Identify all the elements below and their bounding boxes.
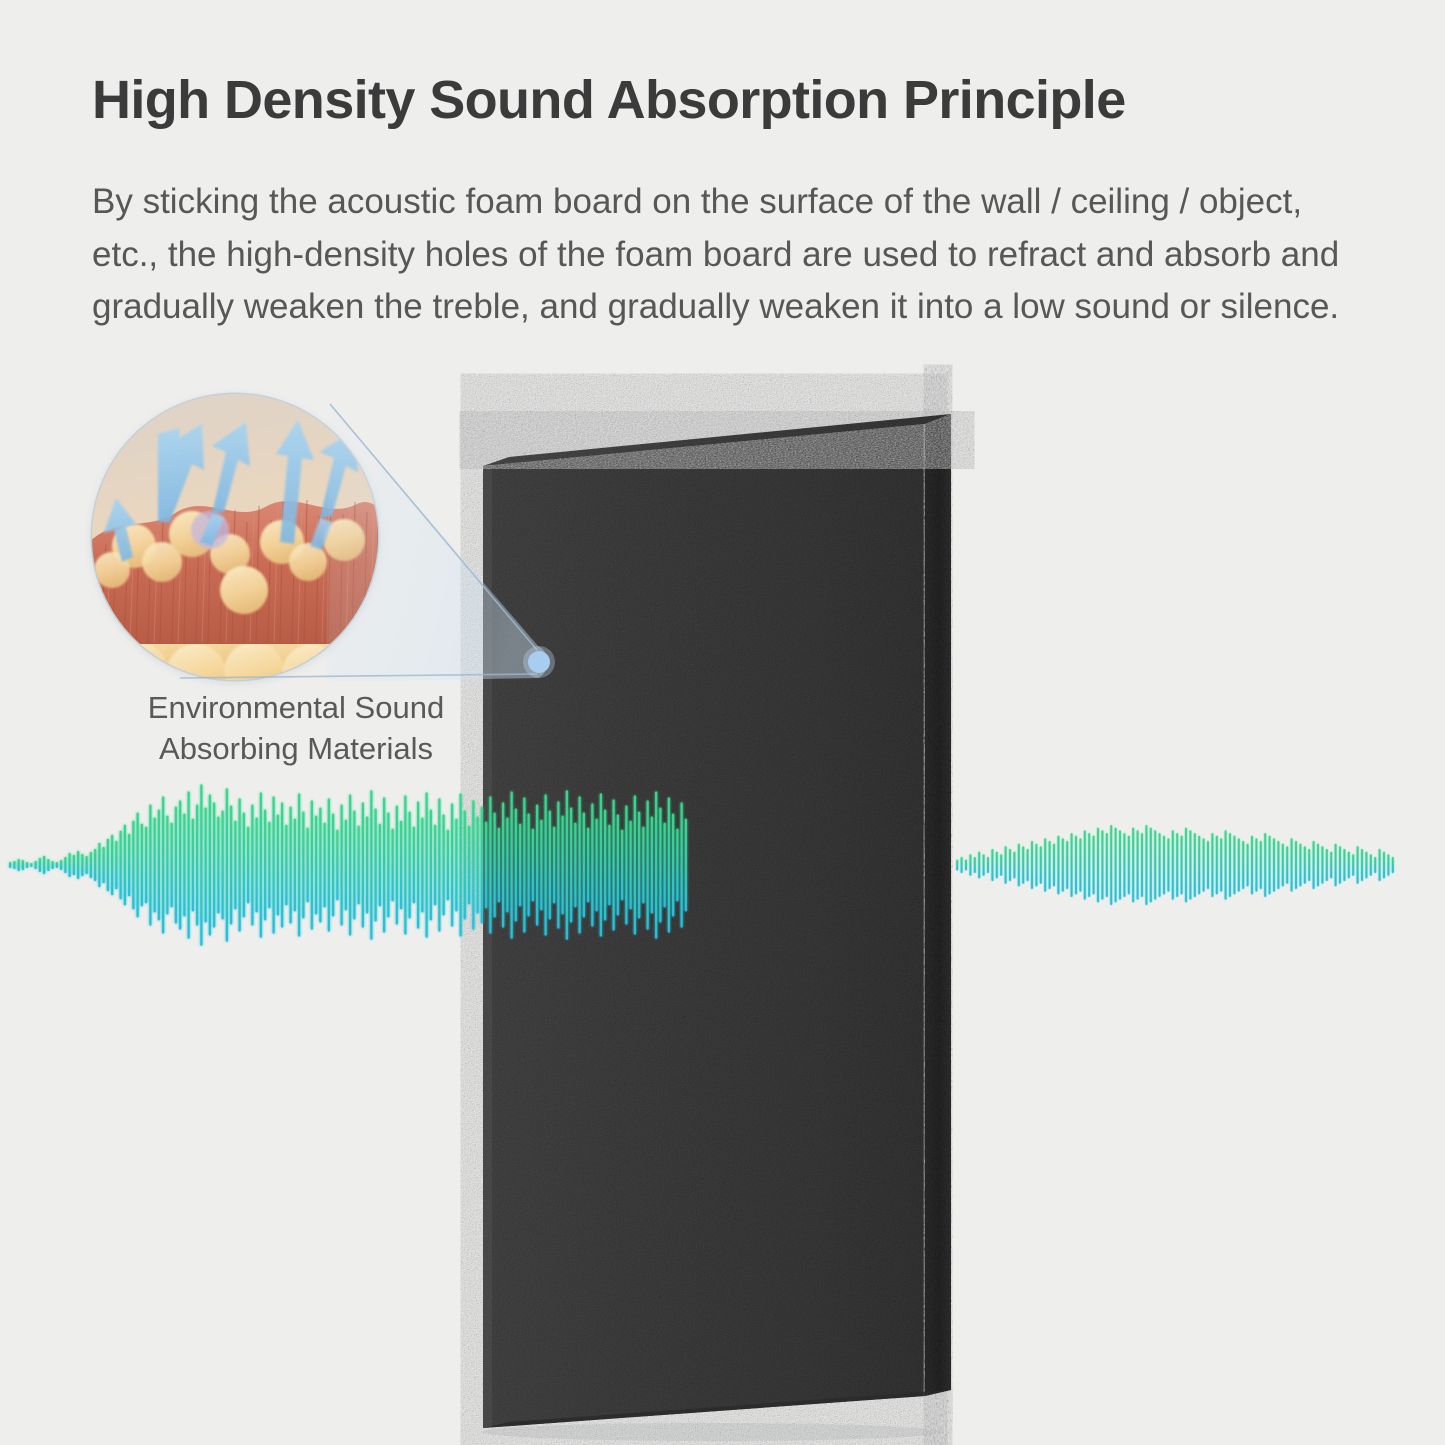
waveform-attenuated xyxy=(955,823,1395,907)
waveform-incoming xyxy=(8,780,688,950)
infographic-root: High Density Sound Absorption Principle … xyxy=(0,0,1445,1445)
waveform-attenuated-svg xyxy=(955,823,1395,907)
magnified-material-view xyxy=(92,394,378,680)
waveform-incoming-svg xyxy=(8,780,688,950)
description-paragraph: By sticking the acoustic foam board on t… xyxy=(92,176,1350,334)
panel-side-face xyxy=(925,414,951,1396)
page-title: High Density Sound Absorption Principle xyxy=(92,72,1372,129)
panel-top-edge xyxy=(483,414,951,466)
callout-caption: Environmental Sound Absorbing Materials xyxy=(86,688,506,770)
magnifier-artwork xyxy=(92,394,378,680)
marker-halo xyxy=(523,646,555,678)
marker-dot xyxy=(528,651,550,673)
panel-bottom-edge xyxy=(483,1390,951,1428)
